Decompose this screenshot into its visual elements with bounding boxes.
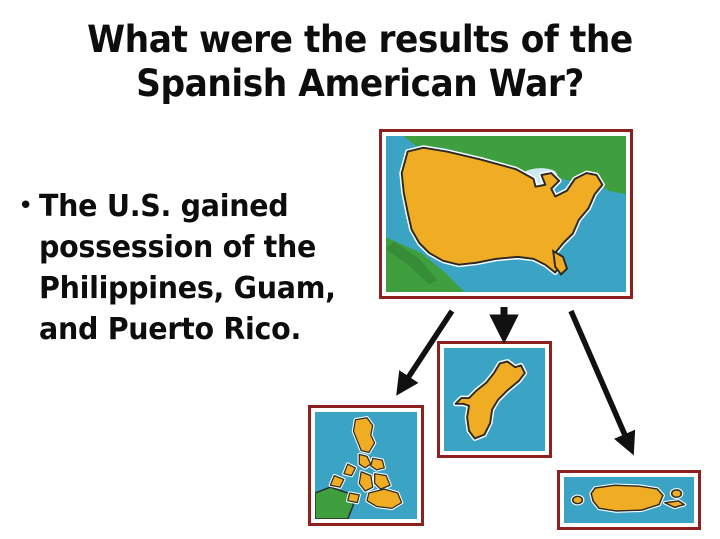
- guam-map-graphic: [444, 348, 545, 451]
- bullet-marker-icon: •: [18, 186, 33, 227]
- philippines-map-figure: [308, 405, 424, 526]
- united-states-map-image: [386, 136, 626, 292]
- puerto-rico-map-graphic: [564, 477, 694, 523]
- title-line-1: What were the results of the: [25, 18, 695, 62]
- philippines-map-graphic: [315, 412, 417, 519]
- puerto-rico-map-image: [564, 477, 694, 523]
- philippines-map-image: [315, 412, 417, 519]
- list-item: • The U.S. gained possession of the Phil…: [18, 186, 370, 350]
- guam-map-figure: [437, 341, 552, 458]
- body-text-block: • The U.S. gained possession of the Phil…: [18, 186, 370, 350]
- page-title: What were the results of the Spanish Ame…: [0, 18, 720, 106]
- bullet-item-label: The U.S. gained possession of the Philip…: [39, 186, 353, 350]
- title-line-2: Spanish American War?: [25, 62, 695, 106]
- guam-map-image: [444, 348, 545, 451]
- united-states-map-graphic: [386, 136, 626, 292]
- puerto-rico-map-figure: [557, 470, 701, 530]
- slide-canvas: What were the results of the Spanish Ame…: [0, 0, 720, 539]
- arrow-us-to-puerto-rico: [571, 311, 631, 449]
- united-states-map-figure: [379, 129, 633, 299]
